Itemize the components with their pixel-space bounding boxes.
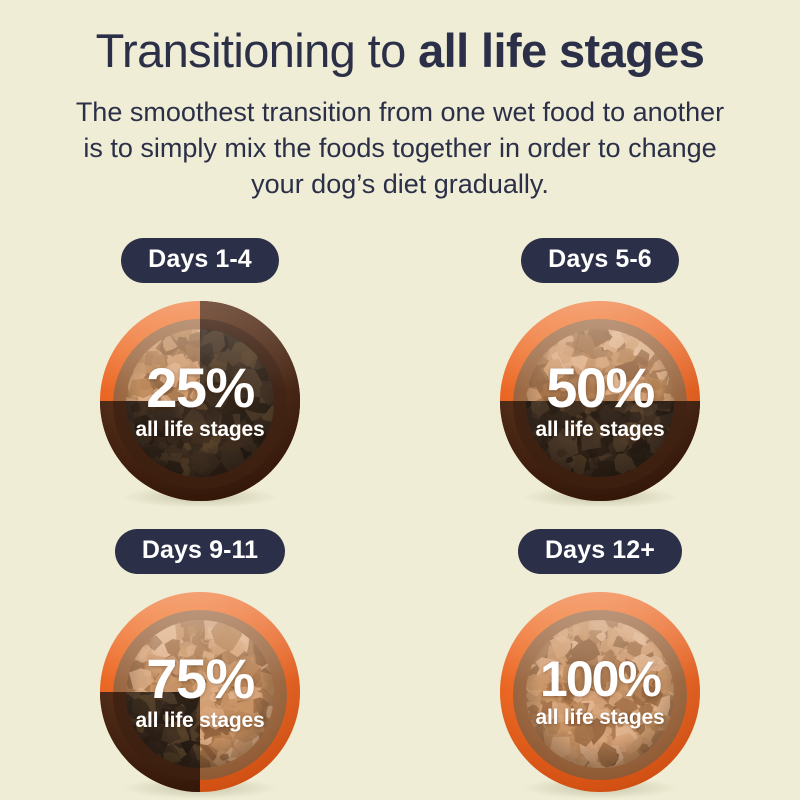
stage-card-3: Days 9-1175%all life stages	[0, 529, 400, 798]
stage-card-4: Days 12+100%all life stages	[400, 529, 800, 798]
page-title: Transitioning to all life stages	[0, 26, 800, 76]
stage-card-1: Days 1-425%all life stages	[0, 238, 400, 507]
infographic-page: Transitioning to all life stages The smo…	[0, 0, 800, 800]
stage-badge[interactable]: Days 12+	[518, 529, 682, 574]
header: Transitioning to all life stages The smo…	[0, 0, 800, 202]
bowl-graphic	[94, 586, 306, 798]
bowl-new-food-layer	[500, 592, 700, 792]
bowl-graphic	[94, 295, 306, 507]
bowl-graphic	[494, 295, 706, 507]
bowl-diagram: 25%all life stages	[94, 295, 306, 507]
stage-badge[interactable]: Days 1-4	[121, 238, 279, 283]
bowl-diagram: 75%all life stages	[94, 586, 306, 798]
stage-badge[interactable]: Days 5-6	[521, 238, 679, 283]
bowl-diagram: 50%all life stages	[494, 295, 706, 507]
stage-badge[interactable]: Days 9-11	[115, 529, 285, 574]
page-subtitle: The smoothest transition from one wet fo…	[70, 94, 730, 203]
stage-card-2: Days 5-650%all life stages	[400, 238, 800, 507]
stage-grid: Days 1-425%all life stagesDays 5-650%all…	[0, 238, 800, 798]
bowl-graphic	[494, 586, 706, 798]
title-bold-part: all life stages	[418, 24, 704, 77]
title-light-part: Transitioning to	[96, 24, 418, 77]
bowl-diagram: 100%all life stages	[494, 586, 706, 798]
